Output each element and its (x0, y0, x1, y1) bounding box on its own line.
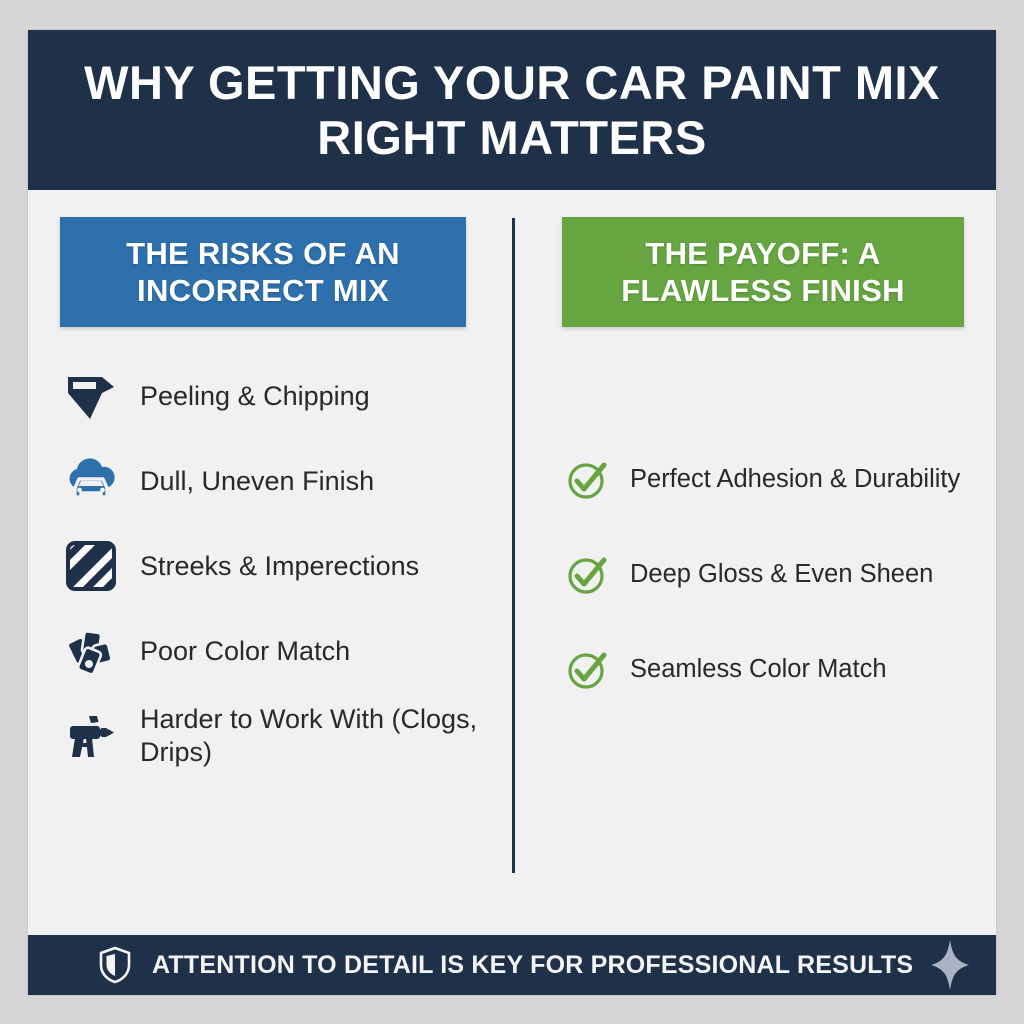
infographic-card: WHY GETTING YOUR CAR PAINT MIX RIGHT MAT… (28, 30, 996, 995)
footer-text: ATTENTION TO DETAIL IS KEY FOR PROFESSIO… (152, 951, 913, 980)
list-item: Seamless Color Match (564, 637, 964, 703)
content-area: THE RISKS OF AN INCORRECT MIX Peeling & … (28, 190, 996, 935)
spray-gun-icon (60, 705, 122, 767)
list-item-label: Perfect Adhesion & Durability (630, 464, 960, 495)
check-circle-icon (564, 457, 610, 503)
risks-banner: THE RISKS OF AN INCORRECT MIX (60, 217, 466, 327)
shield-icon (98, 945, 132, 985)
sparkle-icon (930, 939, 970, 991)
list-item-label: Harder to Work With (Clogs, Drips) (140, 703, 492, 769)
list-item-label: Streeks & Imperections (140, 550, 419, 583)
list-item: Streeks & Imperections (60, 533, 492, 599)
header-banner: WHY GETTING YOUR CAR PAINT MIX RIGHT MAT… (28, 30, 996, 190)
list-item-label: Dull, Uneven Finish (140, 465, 374, 498)
list-item: Peeling & Chipping (60, 363, 492, 429)
check-circle-icon (564, 552, 610, 598)
risks-list: Peeling & Chipping Dull, Uneven Finish (60, 363, 492, 769)
risks-column: THE RISKS OF AN INCORRECT MIX Peeling & … (28, 190, 512, 935)
list-item: Perfect Adhesion & Durability (564, 447, 964, 513)
risks-banner-label: THE RISKS OF AN INCORRECT MIX (60, 235, 466, 309)
peeling-paint-icon (60, 365, 122, 427)
list-item-label: Deep Gloss & Even Sheen (630, 559, 933, 590)
payoff-list: Perfect Adhesion & Durability Deep Gloss… (564, 447, 964, 703)
payoff-banner: THE PAYOFF: A FLAWLESS FINISH (562, 217, 964, 327)
payoff-column: THE PAYOFF: A FLAWLESS FINISH Perfect Ad… (512, 190, 996, 935)
paint-swatches-icon (60, 620, 122, 682)
list-item: Poor Color Match (60, 618, 492, 684)
list-item: Deep Gloss & Even Sheen (564, 542, 964, 608)
footer-banner: ATTENTION TO DETAIL IS KEY FOR PROFESSIO… (28, 935, 996, 995)
list-item-label: Poor Color Match (140, 635, 350, 668)
list-item: Harder to Work With (Clogs, Drips) (60, 703, 492, 769)
car-in-cloud-icon (60, 450, 122, 512)
striped-square-icon (60, 535, 122, 597)
list-item-label: Seamless Color Match (630, 654, 887, 685)
payoff-banner-label: THE PAYOFF: A FLAWLESS FINISH (562, 235, 964, 309)
list-item-label: Peeling & Chipping (140, 380, 370, 413)
page-title: WHY GETTING YOUR CAR PAINT MIX RIGHT MAT… (82, 55, 942, 166)
list-item: Dull, Uneven Finish (60, 448, 492, 514)
check-circle-icon (564, 647, 610, 693)
